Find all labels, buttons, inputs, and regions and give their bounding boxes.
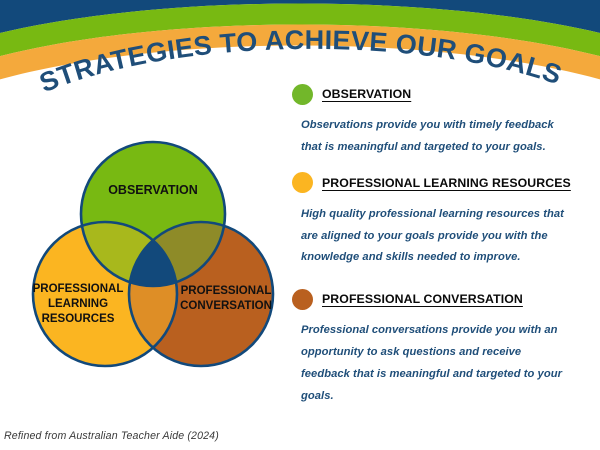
legend-item-professional-learning-resources[interactable]: PROFESSIONAL LEARNING RESOURCES High qua… — [292, 171, 592, 270]
legend-dot-professional-conversation-icon — [292, 289, 313, 310]
legend-head-observation: OBSERVATION — [292, 82, 592, 106]
svg-text:PROFESSIONAL: PROFESSIONAL — [33, 283, 124, 295]
venn-diagram: OBSERVATION PROFESSIONAL LEARNING RESOUR… — [8, 122, 298, 402]
legend-title-observation: OBSERVATION — [322, 87, 411, 101]
legend-title-professional-learning-resources: PROFESSIONAL LEARNING RESOURCES — [322, 176, 571, 190]
legend-body-professional-learning-resources: High quality professional learning resou… — [301, 204, 573, 270]
legend-head-professional-learning-resources: PROFESSIONAL LEARNING RESOURCES — [292, 171, 592, 195]
svg-text:CONVERSATION: CONVERSATION — [180, 300, 272, 312]
svg-text:LEARNING: LEARNING — [48, 298, 108, 310]
legend-dot-observation-icon — [292, 84, 313, 105]
legend-head-professional-conversation: PROFESSIONAL CONVERSATION — [292, 287, 592, 311]
legend-title-professional-conversation: PROFESSIONAL CONVERSATION — [322, 292, 523, 306]
legend-item-observation[interactable]: OBSERVATION Observations provide you wit… — [292, 82, 592, 159]
venn-label-observation: OBSERVATION — [108, 183, 198, 197]
legend-item-professional-conversation[interactable]: PROFESSIONAL CONVERSATION Professional c… — [292, 287, 592, 407]
legend-body-observation: Observations provide you with timely fee… — [301, 115, 573, 159]
legend-body-professional-conversation: Professional conversations provide you w… — [301, 320, 573, 407]
svg-text:RESOURCES: RESOURCES — [42, 313, 115, 325]
svg-text:PROFESSIONAL: PROFESSIONAL — [181, 285, 272, 297]
slide-canvas: STRATEGIES TO ACHIEVE OUR GOALS — [0, 0, 600, 450]
source-credit: Refined from Australian Teacher Aide (20… — [4, 430, 219, 442]
legend-dot-professional-learning-resources-icon — [292, 172, 313, 193]
legend-panel: OBSERVATION Observations provide you wit… — [292, 82, 592, 412]
